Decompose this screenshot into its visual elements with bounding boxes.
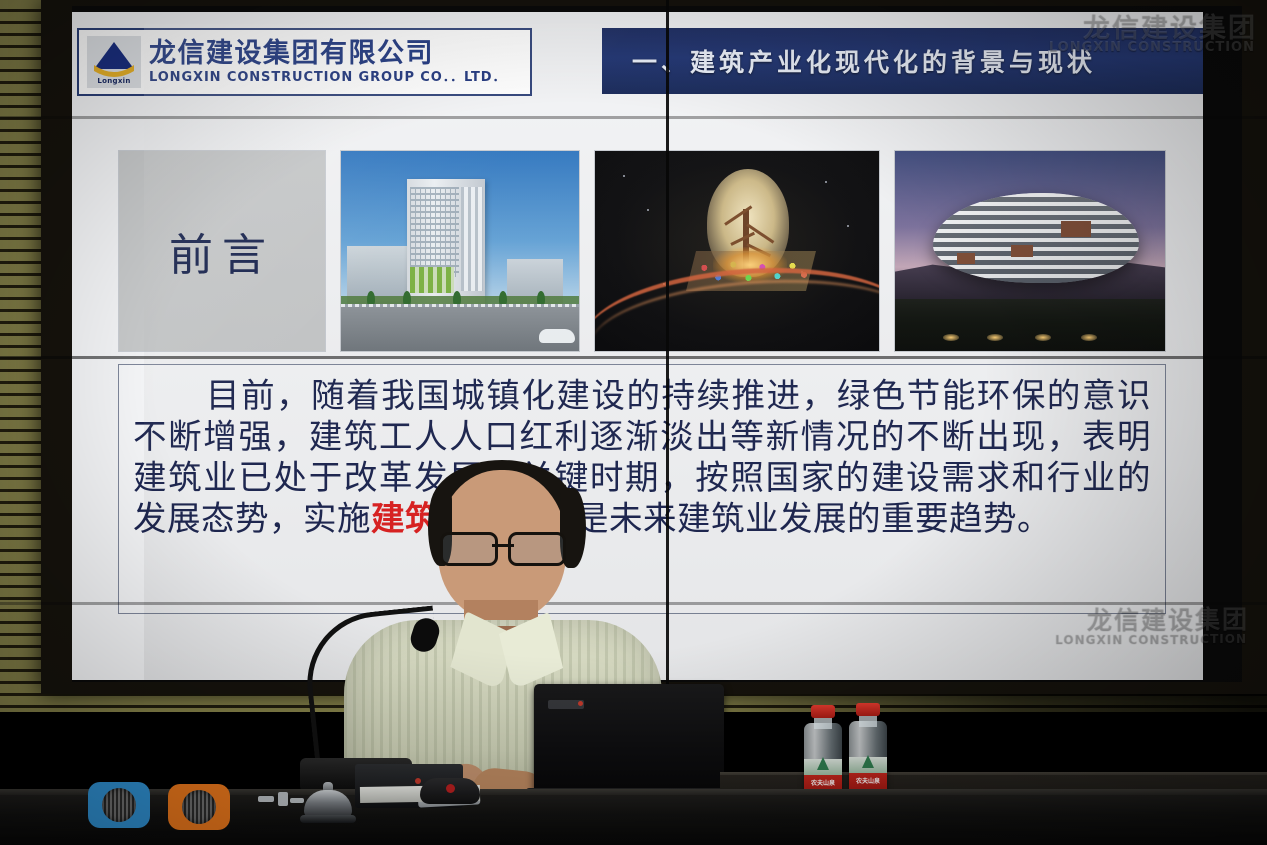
bottle-brand-text: 农夫山泉 (849, 776, 887, 785)
slide-header: Longxin 龙信建设集团有限公司 LONGXIN CONSTRUCTION … (72, 28, 1203, 100)
company-name-en: LONGXIN CONSTRUCTION GROUP CO．．LTD． (149, 71, 506, 84)
photo-oval-building (894, 150, 1166, 352)
logo-wordmark: Longxin (87, 77, 141, 85)
video-wall-seam-horizontal (0, 356, 1267, 359)
power-led-icon (415, 778, 421, 784)
laptop-thinkpad[interactable] (534, 684, 724, 802)
mic-grille-icon (102, 788, 136, 822)
video-wall-seam-vertical (666, 0, 669, 694)
oval-building (933, 193, 1139, 283)
preface-card: 前言 (118, 150, 326, 352)
eyeglasses (440, 532, 566, 562)
mouse-scroll-icon (446, 784, 455, 793)
bottle-brand-text: 农夫山泉 (804, 778, 842, 787)
laptop-logo-dot (578, 701, 583, 706)
bottle-cap (856, 703, 880, 716)
glasses-bridge (492, 544, 514, 547)
photo-highrise (340, 150, 580, 352)
slide-image-strip: 前言 (118, 150, 1166, 352)
lens-right (508, 532, 566, 566)
video-wall-seam-horizontal (0, 116, 1267, 119)
preface-label: 前言 (169, 219, 275, 283)
mic-windscreen-orange[interactable] (168, 784, 230, 830)
lens-left (440, 532, 498, 566)
highrise-tower (407, 179, 485, 311)
company-name-block: 龙信建设集团有限公司 LONGXIN CONSTRUCTION GROUP CO… (149, 40, 506, 84)
foreground-landscape (895, 299, 1165, 351)
company-name-cn: 龙信建设集团有限公司 (149, 40, 506, 67)
photo-night-aerial (594, 150, 880, 352)
facade-fins (461, 187, 483, 291)
scene-root: Longxin 龙信建设集团有限公司 LONGXIN CONSTRUCTION … (0, 0, 1267, 845)
mic-windscreen-blue[interactable] (88, 782, 150, 828)
car (539, 329, 575, 343)
bottle-cap (811, 705, 835, 718)
facade-green-panels (410, 267, 454, 293)
section-title-banner: 一、建筑产业化现代化的背景与现状 (602, 28, 1203, 94)
mic-grille-icon (182, 790, 216, 824)
section-title: 一、建筑产业化现代化的背景与现状 (632, 43, 1096, 79)
facade-grid (410, 187, 459, 277)
bell-base (300, 815, 356, 823)
service-bell[interactable] (300, 782, 356, 826)
longxin-logo-icon: Longxin (87, 36, 141, 88)
company-logo-block: Longxin 龙信建设集团有限公司 LONGXIN CONSTRUCTION … (77, 28, 532, 96)
bell-dome (304, 790, 352, 818)
balcony-bands (933, 193, 1139, 283)
laptop-lid (534, 684, 724, 794)
